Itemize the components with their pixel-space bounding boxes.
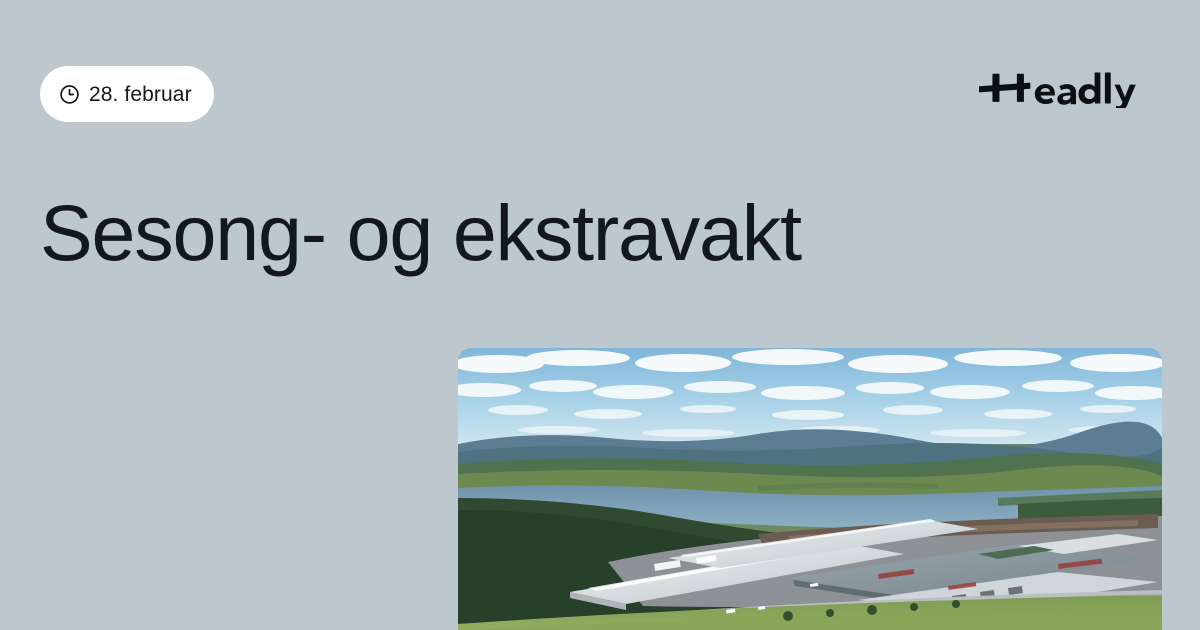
- aerial-landscape-illustration: [458, 348, 1162, 630]
- clock-icon: [59, 84, 80, 105]
- date-badge: 28. februar: [40, 66, 214, 122]
- headly-wordmark-icon: [979, 64, 1162, 108]
- date-label: 28. februar: [89, 84, 192, 105]
- social-share-card: 28. februar Sesong- og ekstrava: [0, 0, 1200, 630]
- page-title: Sesong- og ekstravakt: [40, 192, 1040, 274]
- hero-image: [458, 348, 1162, 630]
- brand-logo[interactable]: [979, 64, 1162, 108]
